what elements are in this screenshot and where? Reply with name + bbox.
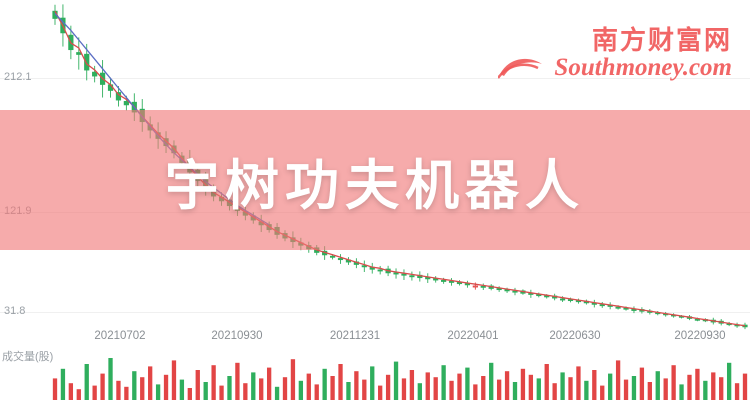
swoosh-icon (498, 54, 544, 80)
x-tick-4: 20220630 (549, 330, 600, 342)
watermark: 南方财富网 Southmoney.com (500, 14, 740, 86)
chart-screenshot: 212.1 121.9 31.8 20210702 20210930 20211… (0, 0, 750, 400)
x-tick-2: 20211231 (330, 330, 380, 342)
x-tick-5: 20220930 (674, 330, 725, 342)
volume-chart-panel (0, 345, 750, 400)
watermark-cn-text: 南方财富网 (592, 20, 732, 57)
volume-axis-title: 成交量(股) (2, 348, 53, 364)
watermark-en-text: Southmoney.com (554, 54, 732, 82)
x-tick-1: 20210930 (211, 330, 262, 342)
banner-title: 宇树功夫机器人 (0, 110, 750, 250)
x-tick-0: 20210702 (94, 330, 145, 342)
volume-bars (0, 345, 750, 400)
x-tick-3: 20220401 (447, 330, 498, 342)
